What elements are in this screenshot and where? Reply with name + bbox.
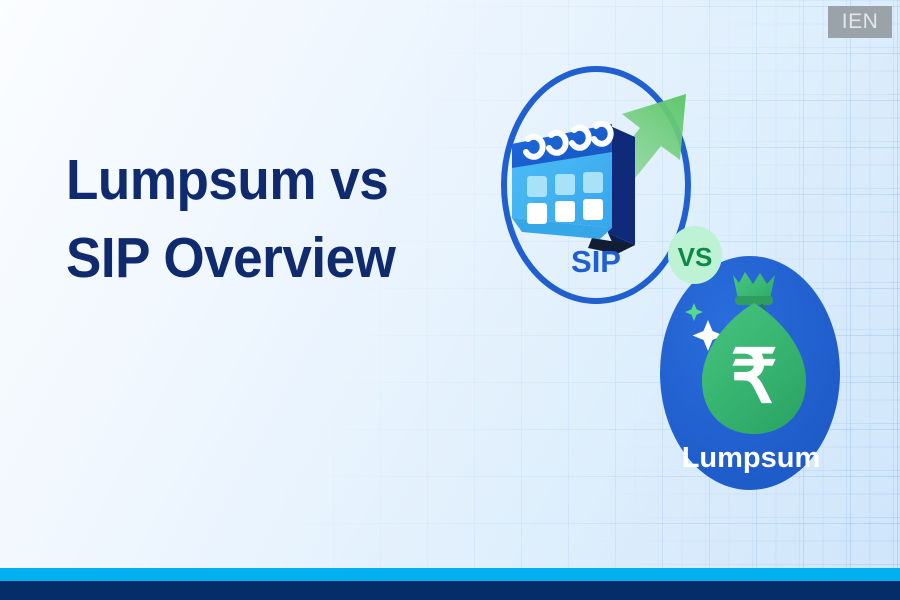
- rupee-symbol: ₹: [730, 335, 777, 418]
- sip-label: SIP: [571, 244, 621, 279]
- calendar-icon: [512, 124, 635, 254]
- page-title: Lumpsum vs SIP Overview: [66, 142, 466, 297]
- banner-image: IEN Lumpsum vs SIP Overview: [0, 0, 900, 600]
- footer-bar-navy: [0, 581, 900, 600]
- lumpsum-label: Lumpsum: [682, 442, 821, 474]
- vs-badge: VS: [668, 226, 722, 284]
- illustration: SIP ₹: [470, 20, 900, 540]
- footer-bar-cyan: [0, 568, 900, 581]
- vs-label: VS: [678, 242, 713, 272]
